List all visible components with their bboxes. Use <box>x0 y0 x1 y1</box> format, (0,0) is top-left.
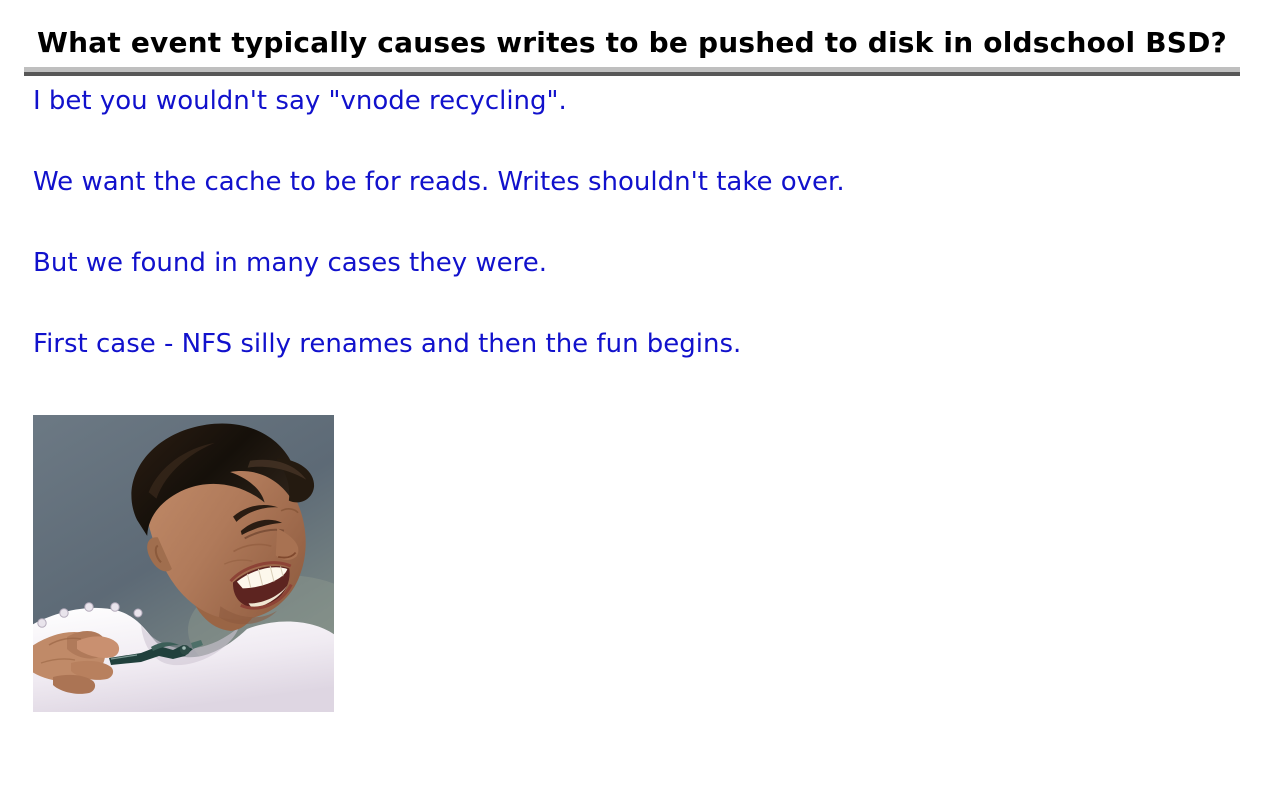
slide-canvas: What event typically causes writes to be… <box>0 0 1280 800</box>
divider-shadow <box>24 72 1240 76</box>
body-line-1: I bet you wouldn't say "vnode recycling"… <box>33 84 1233 165</box>
title-divider <box>24 67 1240 76</box>
body-line-3: But we found in many cases they were. <box>33 246 1233 327</box>
slide-photo <box>33 415 334 712</box>
body-line-4: First case - NFS silly renames and then … <box>33 327 1233 408</box>
body-line-2: We want the cache to be for reads. Write… <box>33 165 1233 246</box>
slide-body: I bet you wouldn't say "vnode recycling"… <box>33 84 1233 408</box>
slide-title: What event typically causes writes to be… <box>24 26 1240 60</box>
dentist-photo-illustration <box>33 415 334 712</box>
